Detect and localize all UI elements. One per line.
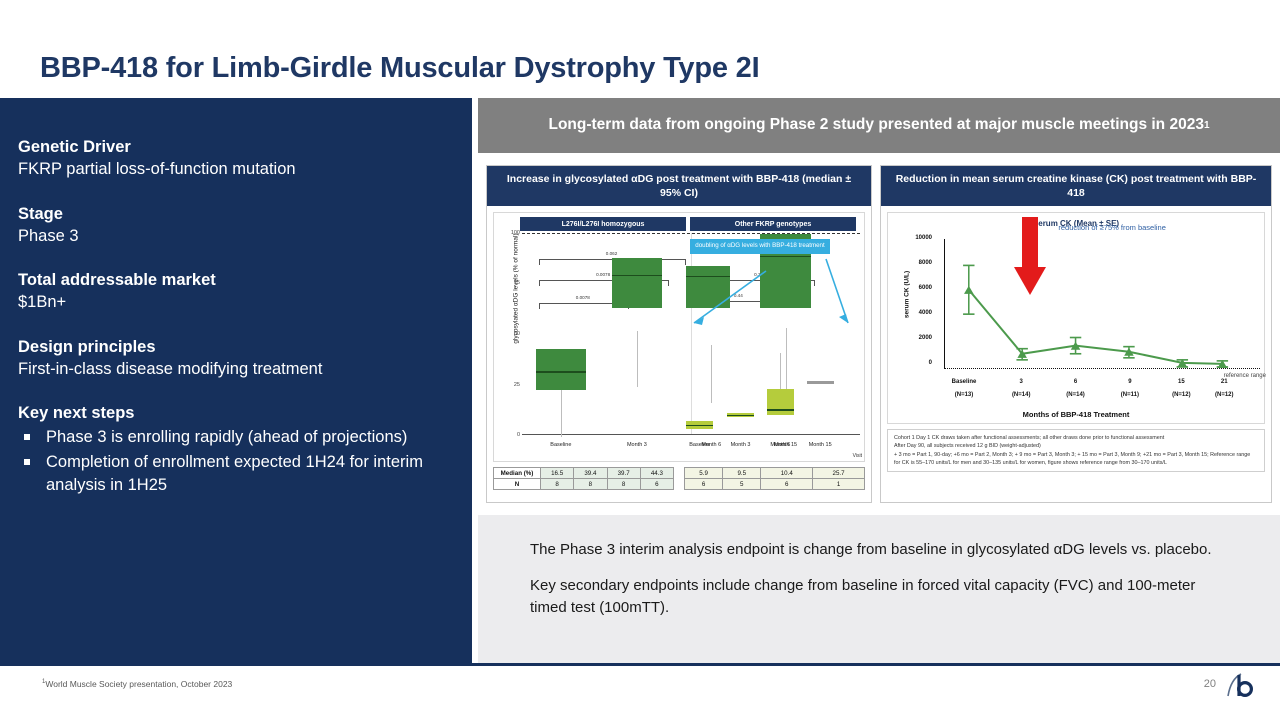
x-axis-label: Months of BBP-418 Treatment — [888, 410, 1264, 419]
whisker — [780, 353, 781, 393]
footer-divider — [0, 663, 1280, 666]
panel-header-homozygous: L276I/L276I homozygous — [520, 217, 686, 231]
summary-table: Median (%) 16.5 39.4 39.7 44.3 N 8 8 8 — [493, 467, 674, 490]
median-line — [612, 275, 663, 276]
endpoint-paragraph-secondary: Key secondary endpoints include change f… — [530, 575, 1230, 618]
company-logo-icon — [1224, 672, 1260, 698]
table-row: Median (%) 16.5 39.4 39.7 44.3 — [494, 468, 674, 479]
cell: 6 — [640, 479, 673, 490]
info-group-market: Total addressable market $1Bn+ — [18, 269, 450, 314]
y-tick: 8000 — [904, 260, 932, 266]
figure-body: Serum CK (Mean ± SE) serum CK (U/L) 1000… — [881, 206, 1271, 477]
x-tick: Baseline — [525, 442, 596, 448]
page-title: BBP-418 for Limb-Girdle Muscular Dystrop… — [40, 52, 759, 85]
y-tick: 25 — [506, 382, 520, 388]
info-group-next-steps: Key next steps Phase 3 is enrolling rapi… — [18, 402, 450, 498]
cell: 25.7 — [813, 468, 865, 479]
cell: 10.4 — [761, 468, 813, 479]
footnote-text: World Muscle Society presentation, Octob… — [45, 679, 232, 689]
cell: 1 — [813, 479, 865, 490]
box-month3-homozygous — [612, 258, 663, 307]
reduction-annotation: reduction of ≥75% from baseline — [1058, 223, 1218, 234]
figure-title: Increase in glycosylated αDG post treatm… — [487, 166, 871, 206]
cell: 16.5 — [541, 468, 574, 479]
cell: 5.9 — [685, 468, 723, 479]
median-line — [686, 425, 713, 426]
y-axis-label: glycosylated αDG levels (% of normal) — [513, 219, 520, 359]
square-bullet-icon — [24, 434, 30, 440]
table-row: 6 5 6 1 — [685, 479, 865, 490]
banner-footnote-marker: 1 — [1204, 119, 1210, 132]
callout-arrow-icon-2 — [824, 253, 858, 333]
group-heading: Total addressable market — [18, 269, 450, 291]
box-month6-other — [767, 389, 794, 415]
box-month3-other — [727, 413, 754, 417]
cell: 9.5 — [723, 468, 761, 479]
table-row: N 8 8 8 6 — [494, 479, 674, 490]
table-block-homozygous: Median (%) 16.5 39.4 39.7 44.3 N 8 8 8 — [493, 467, 674, 490]
y-tick: 100 — [506, 230, 520, 236]
box-baseline-other — [686, 421, 713, 429]
boxplot-summary-table: Median (%) 16.5 39.4 39.7 44.3 N 8 8 8 — [493, 467, 865, 490]
group-heading: Genetic Driver — [18, 136, 450, 158]
y-tick: 75 — [506, 280, 520, 286]
table-row: 5.9 9.5 10.4 25.7 — [685, 468, 865, 479]
list-item-label: Phase 3 is enrolling rapidly (ahead of p… — [46, 428, 407, 446]
figures-strip: Increase in glycosylated αDG post treatm… — [478, 153, 1280, 515]
reference-range-label: reference range — [1224, 373, 1266, 379]
figure-adg-boxplot: Increase in glycosylated αDG post treatm… — [486, 165, 872, 503]
panel-header-other: Other FKRP genotypes — [690, 217, 856, 231]
list-item: Phase 3 is enrolling rapidly (ahead of p… — [18, 426, 450, 449]
y-tick: 6000 — [904, 285, 932, 291]
x-n-label: (N=13) — [933, 392, 996, 398]
cell: 8 — [607, 479, 640, 490]
figure-title: Reduction in mean serum creatine kinase … — [881, 166, 1271, 206]
x-n-label: (N=12) — [1193, 392, 1256, 398]
slide-root: BBP-418 for Limb-Girdle Muscular Dystrop… — [0, 0, 1280, 720]
x-tick: Month 6 — [761, 442, 799, 448]
list-item: Completion of enrollment expected 1H24 f… — [18, 451, 450, 498]
y-axis-label: serum CK (U/L) — [904, 240, 911, 350]
cell: 8 — [574, 479, 607, 490]
cell: 44.3 — [640, 468, 673, 479]
x-tick: Month 3 — [722, 442, 760, 448]
median-line — [536, 371, 587, 372]
group-heading: Stage — [18, 203, 450, 225]
row-label: N — [494, 479, 541, 490]
red-down-arrow-icon — [1013, 217, 1047, 303]
y-tick: 0 — [506, 432, 520, 438]
x-tick: Baseline — [933, 379, 996, 385]
callout-arrow-icon — [680, 269, 770, 331]
table-block-other: 5.9 9.5 10.4 25.7 6 5 6 1 — [684, 467, 865, 490]
callout-doubling-adg: doubling of αDG levels with BBP-418 trea… — [690, 239, 830, 253]
x-tick: 21 — [1193, 379, 1256, 385]
cell: 5 — [723, 479, 761, 490]
cell: 6 — [761, 479, 813, 490]
figure-ck-linechart: Reduction in mean serum creatine kinase … — [880, 165, 1272, 503]
group-heading: Key next steps — [18, 402, 450, 424]
x-tick: Month 3 — [601, 442, 672, 448]
slide-footnote: 1World Muscle Society presentation, Octo… — [42, 679, 232, 689]
cell: 39.4 — [574, 468, 607, 479]
list-item-label: Completion of enrollment expected 1H24 f… — [46, 453, 423, 494]
y-tick: 0 — [904, 360, 932, 366]
median-line — [767, 409, 794, 410]
y-tick: 10000 — [904, 235, 932, 241]
banner-text: Long-term data from ongoing Phase 2 stud… — [548, 115, 1203, 135]
x-tick: Month 15 — [801, 442, 839, 448]
whisker — [637, 331, 638, 387]
left-info-panel: Genetic Driver FKRP partial loss-of-func… — [0, 98, 472, 663]
group-value: $1Bn+ — [18, 291, 450, 313]
y-tick: 4000 — [904, 310, 932, 316]
ck-series-line — [944, 239, 1230, 369]
info-group-design-principles: Design principles First-in-class disease… — [18, 336, 450, 381]
info-group-genetic-driver: Genetic Driver FKRP partial loss-of-func… — [18, 136, 450, 181]
linechart-canvas: Serum CK (Mean ± SE) serum CK (U/L) 1000… — [887, 212, 1265, 424]
cell: 8 — [541, 479, 574, 490]
y-tick: 50 — [506, 331, 520, 337]
footnote-line: + 3 mo = Part 1, 90-day; +6 mo = Part 2,… — [894, 451, 1258, 467]
boxplot-canvas: L276I/L276I homozygous Other FKRP genoty… — [493, 212, 865, 462]
page-number: 20 — [1204, 678, 1216, 690]
info-group-stage: Stage Phase 3 — [18, 203, 450, 248]
cell: 6 — [685, 479, 723, 490]
figure-footnotes: Cohort 1 Day 1 CK draws taken after func… — [887, 429, 1265, 471]
figure-body: L276I/L276I homozygous Other FKRP genoty… — [487, 206, 871, 496]
summary-table: 5.9 9.5 10.4 25.7 6 5 6 1 — [684, 467, 865, 490]
endpoint-paragraph-primary: The Phase 3 interim analysis endpoint is… — [530, 539, 1230, 560]
endpoints-panel: The Phase 3 interim analysis endpoint is… — [478, 515, 1280, 663]
x-tick: Baseline — [681, 442, 719, 448]
group-value: First-in-class disease modifying treatme… — [18, 358, 450, 380]
y-tick: 2000 — [904, 335, 932, 341]
pvalue-label: 0.062 — [539, 251, 684, 256]
x-axis-label: Visit — [853, 453, 862, 459]
square-bullet-icon — [24, 459, 30, 465]
section-banner: Long-term data from ongoing Phase 2 stud… — [478, 98, 1280, 153]
group-heading: Design principles — [18, 336, 450, 358]
linechart-plot-area: reduction of ≥75% from baseline Baseline… — [944, 239, 1230, 369]
box-baseline-homozygous — [536, 349, 587, 390]
median-line — [727, 415, 754, 416]
row-label: Median (%) — [494, 468, 541, 479]
footnote-line: Cohort 1 Day 1 CK draws taken after func… — [894, 434, 1258, 442]
group-value: Phase 3 — [18, 225, 450, 247]
cell: 39.7 — [607, 468, 640, 479]
footnote-line: After Day 90, all subjects received 12 g… — [894, 442, 1258, 450]
next-steps-list: Phase 3 is enrolling rapidly (ahead of p… — [18, 426, 450, 497]
group-value: FKRP partial loss-of-function mutation — [18, 158, 450, 180]
box-month15-other — [807, 381, 834, 383]
